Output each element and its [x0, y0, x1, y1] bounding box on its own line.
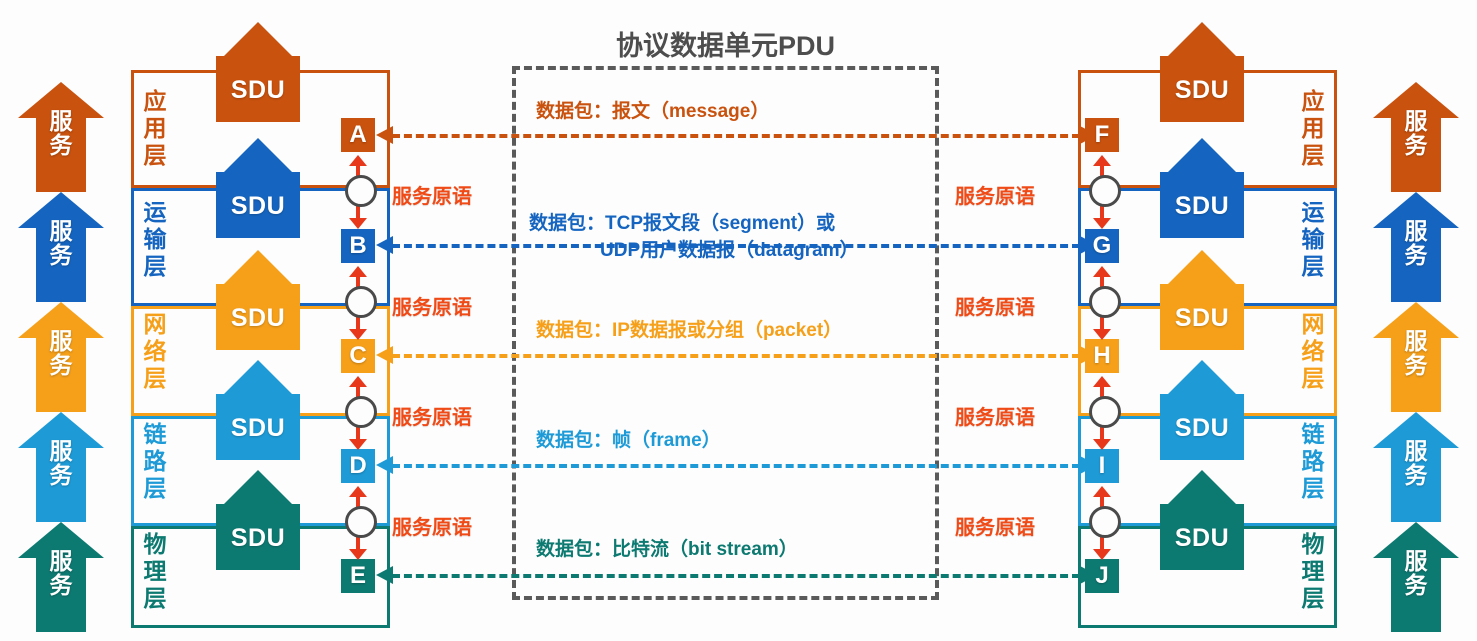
sdu-right-transport: SDU — [1160, 138, 1244, 238]
arrow-head-icon — [349, 439, 367, 450]
service-arrow-label: 服务 — [18, 550, 104, 598]
primitive-label-left-2: 服务原语 — [392, 291, 472, 320]
sap-left-2 — [341, 266, 375, 340]
layer-label-right-network: 网络层 — [1296, 311, 1330, 392]
pdu-line-link — [392, 464, 1080, 468]
service-arrow-left-transport: 服务 — [18, 192, 104, 302]
arrow-head-icon — [349, 549, 367, 560]
arrow-head-icon — [1093, 329, 1111, 340]
sdu-label: SDU — [216, 414, 300, 443]
arrow-head-icon — [1093, 218, 1111, 229]
sdu-label: SDU — [1160, 304, 1244, 333]
layer-label-left-transport: 运输层 — [138, 199, 172, 280]
service-arrow-label: 服务 — [18, 110, 104, 158]
service-arrow-label: 服务 — [18, 220, 104, 268]
arrow-head-icon — [1093, 439, 1111, 450]
sap-right-1 — [1085, 155, 1119, 229]
service-arrow-label: 服务 — [1373, 220, 1459, 268]
pdu-endpoint-d: D — [341, 449, 375, 483]
layer-label-left-physical: 物理层 — [138, 531, 172, 612]
sap-circle-icon — [1089, 286, 1121, 318]
page-title: 协议数据单元PDU — [512, 24, 939, 63]
sap-circle-icon — [345, 286, 377, 318]
primitive-label-right-3: 服务原语 — [955, 401, 1035, 430]
service-arrow-label: 服务 — [1373, 110, 1459, 158]
pdu-line-physical — [392, 574, 1080, 578]
arrow-head-icon — [1093, 549, 1111, 560]
pdu-endpoint-c: C — [341, 339, 375, 373]
packet-label-physical: 数据包：比特流（bit stream） — [536, 537, 798, 563]
packet-label-transport-line2: UDP用户数据报（datagram） — [600, 238, 859, 264]
sdu-label: SDU — [216, 192, 300, 221]
service-arrow-label: 服务 — [18, 440, 104, 488]
sap-left-1 — [341, 155, 375, 229]
pdu-endpoint-g: G — [1085, 229, 1119, 263]
arrow-head-icon — [1168, 470, 1236, 504]
sdu-right-network: SDU — [1160, 250, 1244, 350]
layer-label-right-transport: 运输层 — [1296, 199, 1330, 280]
sdu-label: SDU — [1160, 414, 1244, 443]
layer-label-left-application: 应用层 — [138, 88, 172, 169]
arrow-head-icon — [376, 456, 393, 474]
arrow-head-icon — [224, 250, 292, 284]
arrow-head-icon — [224, 138, 292, 172]
arrow-head-icon — [349, 329, 367, 340]
arrow-head-icon — [349, 266, 367, 277]
packet-label-transport-line1: 数据包：TCP报文段（segment）或 — [529, 211, 835, 237]
pdu-endpoint-b: B — [341, 229, 375, 263]
layer-label-right-link: 链路层 — [1296, 421, 1330, 502]
arrow-head-icon — [224, 470, 292, 504]
pdu-endpoint-e: E — [341, 559, 375, 593]
arrow-head-icon — [1168, 22, 1236, 56]
sdu-right-physical: SDU — [1160, 470, 1244, 570]
sap-circle-icon — [345, 506, 377, 538]
primitive-label-left-1: 服务原语 — [392, 180, 472, 209]
sap-right-3 — [1085, 376, 1119, 450]
arrow-head-icon — [349, 155, 367, 166]
sdu-left-network: SDU — [216, 250, 300, 350]
arrow-head-icon — [1093, 376, 1111, 387]
arrow-head-icon — [376, 236, 393, 254]
pdu-endpoint-j: J — [1085, 559, 1119, 593]
sdu-right-link: SDU — [1160, 360, 1244, 460]
primitive-label-left-3: 服务原语 — [392, 401, 472, 430]
arrow-head-icon — [1168, 138, 1236, 172]
pdu-line-network — [392, 354, 1080, 358]
sap-right-2 — [1085, 266, 1119, 340]
sap-right-4 — [1085, 486, 1119, 560]
sdu-left-transport: SDU — [216, 138, 300, 238]
service-arrow-label: 服务 — [1373, 550, 1459, 598]
pdu-endpoint-a: A — [341, 118, 375, 152]
layer-label-left-network: 网络层 — [138, 311, 172, 392]
arrow-head-icon — [349, 218, 367, 229]
arrow-head-icon — [349, 376, 367, 387]
sdu-label: SDU — [1160, 192, 1244, 221]
service-arrow-right-link: 服务 — [1373, 412, 1459, 522]
sap-left-3 — [341, 376, 375, 450]
arrow-head-icon — [1168, 360, 1236, 394]
sdu-right-application: SDU — [1160, 22, 1244, 122]
arrow-head-icon — [1168, 250, 1236, 284]
service-arrow-right-transport: 服务 — [1373, 192, 1459, 302]
arrow-head-icon — [376, 126, 393, 144]
primitive-label-right-1: 服务原语 — [955, 180, 1035, 209]
sap-left-4 — [341, 486, 375, 560]
sap-circle-icon — [345, 396, 377, 428]
arrow-head-icon — [1093, 266, 1111, 277]
sdu-label: SDU — [1160, 76, 1244, 105]
layer-label-right-application: 应用层 — [1296, 88, 1330, 169]
service-arrow-left-network: 服务 — [18, 302, 104, 412]
service-arrow-label: 服务 — [18, 330, 104, 378]
service-arrow-label: 服务 — [1373, 330, 1459, 378]
primitive-label-left-4: 服务原语 — [392, 511, 472, 540]
arrow-head-icon — [224, 360, 292, 394]
layer-label-right-physical: 物理层 — [1296, 531, 1330, 612]
pdu-endpoint-f: F — [1085, 118, 1119, 152]
sdu-left-physical: SDU — [216, 470, 300, 570]
sdu-left-link: SDU — [216, 360, 300, 460]
sdu-label: SDU — [1160, 524, 1244, 553]
sdu-label: SDU — [216, 524, 300, 553]
packet-label-network: 数据包：IP数据报或分组（packet） — [536, 318, 842, 344]
sap-circle-icon — [1089, 175, 1121, 207]
arrow-head-icon — [349, 486, 367, 497]
service-arrow-right-application: 服务 — [1373, 82, 1459, 192]
primitive-label-right-4: 服务原语 — [955, 511, 1035, 540]
service-arrow-left-application: 服务 — [18, 82, 104, 192]
service-arrow-left-link: 服务 — [18, 412, 104, 522]
sap-circle-icon — [1089, 506, 1121, 538]
pdu-endpoint-h: H — [1085, 339, 1119, 373]
arrow-head-icon — [1093, 486, 1111, 497]
arrow-head-icon — [224, 22, 292, 56]
service-arrow-right-physical: 服务 — [1373, 522, 1459, 632]
pdu-endpoint-i: I — [1085, 449, 1119, 483]
packet-label-application: 数据包：报文（message） — [536, 99, 769, 125]
arrow-head-icon — [376, 346, 393, 364]
sdu-left-application: SDU — [216, 22, 300, 122]
service-arrow-left-physical: 服务 — [18, 522, 104, 632]
sdu-label: SDU — [216, 304, 300, 333]
arrow-head-icon — [376, 566, 393, 584]
sdu-label: SDU — [216, 76, 300, 105]
layer-label-left-link: 链路层 — [138, 421, 172, 502]
packet-label-link: 数据包：帧（frame） — [536, 428, 721, 454]
arrow-head-icon — [1093, 155, 1111, 166]
pdu-line-application — [392, 134, 1080, 138]
primitive-label-right-2: 服务原语 — [955, 291, 1035, 320]
sap-circle-icon — [345, 175, 377, 207]
sap-circle-icon — [1089, 396, 1121, 428]
service-arrow-right-network: 服务 — [1373, 302, 1459, 412]
service-arrow-label: 服务 — [1373, 440, 1459, 488]
